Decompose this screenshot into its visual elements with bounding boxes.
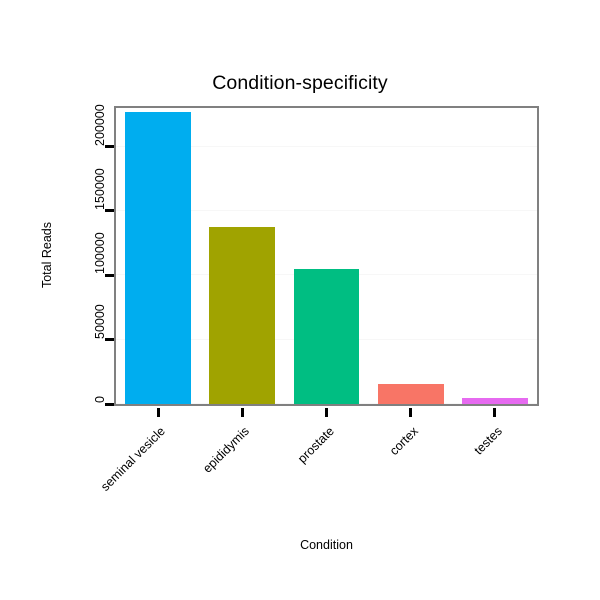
chart-container: Condition-specificity Total Reads 050000… <box>0 0 600 600</box>
bar-cortex <box>378 384 444 404</box>
x-tick-label: cortex <box>331 424 420 513</box>
bar-seminal-vesicle <box>125 112 191 404</box>
x-tick <box>409 408 412 417</box>
x-tick-label: testes <box>416 424 505 513</box>
bar-prostate <box>294 269 360 404</box>
plot-panel <box>114 106 539 406</box>
chart-title: Condition-specificity <box>0 72 600 95</box>
bar-testes <box>462 398 528 404</box>
x-tick-label: seminal vesicle <box>79 424 168 513</box>
x-tick <box>493 408 496 417</box>
x-tick <box>325 408 328 417</box>
x-axis-title: Condition <box>114 538 539 552</box>
plot-area <box>116 108 537 404</box>
bar-epididymis <box>209 227 275 404</box>
x-tick-label: epididymis <box>163 424 252 513</box>
x-tick-label: prostate <box>247 424 336 513</box>
x-tick <box>157 408 160 417</box>
y-tick <box>105 274 114 277</box>
y-axis-title: Total Reads <box>40 175 54 335</box>
x-tick <box>241 408 244 417</box>
